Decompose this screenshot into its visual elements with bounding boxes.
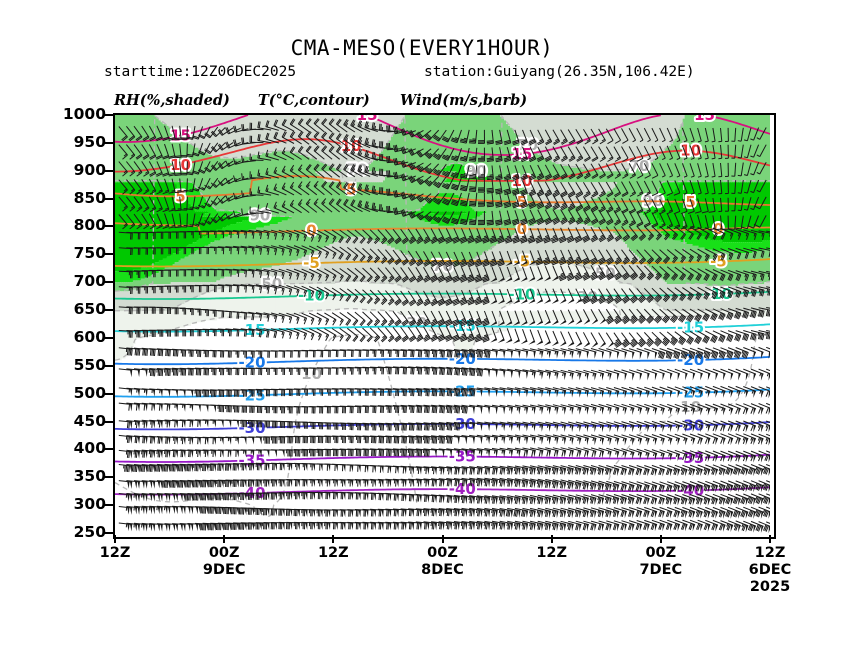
- wind-barb-full: [494, 523, 495, 529]
- wind-barb-flag: [458, 510, 460, 517]
- wind-barb-full: [166, 451, 167, 458]
- wind-barb-full: [455, 510, 456, 516]
- wind-barb-flag: [343, 465, 345, 472]
- wind-barb-full: [380, 450, 381, 457]
- wind-barb-full: [396, 480, 397, 487]
- wind-barb-full: [127, 422, 128, 428]
- wind-barb-flag: [145, 507, 147, 514]
- wind-barb-full: [412, 437, 413, 444]
- wind-barb-flag: [663, 498, 665, 505]
- wind-barb-flag: [610, 498, 612, 505]
- wind-barb-flag: [753, 438, 756, 445]
- wind-barb-half: [522, 523, 523, 526]
- wind-barb-half: [727, 523, 728, 526]
- wind-barb-full: [158, 437, 159, 444]
- wind-barb-half: [674, 484, 675, 487]
- wind-barb-flag: [769, 526, 771, 533]
- wind-barb-full: [517, 523, 518, 529]
- wind-barb-flag: [183, 524, 185, 531]
- wind-barb-flag: [678, 469, 680, 476]
- wind-barb-flag: [229, 420, 231, 427]
- wind-barb-flag: [145, 524, 147, 531]
- wind-barb-half: [712, 510, 713, 513]
- wind-barb-full: [521, 510, 522, 516]
- wind-barb-flag: [298, 464, 300, 471]
- wind-barb-half: [507, 497, 508, 500]
- wind-barb-flag: [496, 480, 498, 487]
- wind-barb-flag: [252, 508, 254, 515]
- wind-barb-flag: [738, 498, 741, 505]
- wind-barb-full: [189, 465, 190, 472]
- wind-barb-flag: [143, 494, 145, 501]
- wind-barb-full: [524, 498, 525, 504]
- wind-barb-flag: [602, 511, 604, 518]
- wind-barb-full: [418, 495, 419, 502]
- wind-barb-flag: [397, 523, 399, 530]
- wind-barb-half: [628, 497, 629, 500]
- wind-barb-half: [598, 468, 599, 471]
- wind-barb-flag: [135, 507, 137, 514]
- wind-barb-flag: [290, 523, 292, 530]
- wind-barb-full: [464, 510, 465, 517]
- wind-barb-full: [159, 451, 160, 458]
- wind-barb-flag: [229, 450, 231, 457]
- wind-barb-flag: [199, 481, 201, 488]
- wind-barb-full: [406, 437, 407, 443]
- wind-barb-flag: [655, 469, 657, 476]
- wind-barb-flag: [150, 481, 152, 488]
- wind-barb-flag: [746, 438, 749, 445]
- wind-barb-full: [456, 523, 457, 530]
- wind-barb-full: [471, 468, 472, 475]
- wind-barb-flag: [708, 485, 711, 492]
- temperature-contour-label: 10: [680, 142, 701, 160]
- wind-barb-half: [530, 480, 531, 483]
- wind-barb-flag: [267, 493, 269, 500]
- wind-barb-flag: [359, 480, 361, 487]
- wind-barb-flag: [328, 523, 330, 530]
- wind-barb-full: [426, 450, 427, 457]
- wind-barb-flag: [374, 523, 376, 530]
- wind-barb-full: [409, 523, 410, 529]
- wind-barb-flag: [143, 507, 145, 514]
- wind-barb-flag: [526, 481, 528, 488]
- wind-barb-full: [524, 511, 525, 517]
- wind-barb-flag: [579, 438, 581, 445]
- wind-barb-half: [608, 438, 609, 441]
- wind-barb-full: [396, 437, 397, 444]
- wind-barb-full: [486, 523, 487, 529]
- wind-barb-flag: [632, 524, 634, 531]
- wind-barb-flag: [556, 524, 558, 531]
- wind-barb-flag: [435, 480, 437, 487]
- wind-barb-flag: [602, 524, 604, 531]
- wind-barb: [606, 448, 619, 452]
- wind-barb-flag: [769, 485, 771, 492]
- wind-barb-flag: [199, 438, 201, 445]
- wind-barb-flag: [435, 523, 437, 530]
- wind-barb-flag: [366, 480, 368, 487]
- wind-barb-full: [502, 468, 503, 474]
- wind-barb-half: [484, 497, 485, 500]
- wind-barb-flag: [594, 498, 596, 505]
- wind-barb-flag: [587, 438, 589, 445]
- wind-barb-flag: [244, 523, 246, 530]
- wind-barb-flag: [556, 450, 558, 457]
- wind-barb-full: [129, 466, 130, 473]
- wind-barb-half: [605, 497, 606, 500]
- wind-barb-full: [447, 510, 448, 516]
- wind-barb-full: [577, 450, 579, 456]
- wind-barb-half: [590, 468, 591, 471]
- wind-barb-full: [523, 480, 524, 486]
- wind-barb-flag: [572, 524, 574, 531]
- wind-barb-flag: [305, 523, 307, 530]
- wind-barb-flag: [420, 480, 422, 487]
- wind-barb-full: [164, 465, 165, 472]
- wind-barb-half: [570, 438, 571, 441]
- wind-barb-flag: [708, 511, 711, 518]
- wind-barb-flag: [282, 450, 284, 457]
- wind-barb-full: [449, 510, 450, 517]
- wind-barb-flag: [165, 524, 167, 531]
- wind-barb-flag: [275, 493, 277, 500]
- wind-barb-full: [387, 450, 388, 457]
- wind-barb-flag: [625, 438, 627, 445]
- wind-barb-half: [514, 523, 515, 526]
- wind-barb-full: [517, 498, 518, 504]
- wind-barb-full: [509, 498, 510, 504]
- wind-barb-full: [126, 465, 127, 472]
- wind-barb-full: [417, 495, 418, 502]
- wind-barb-flag: [738, 469, 741, 476]
- wind-barb-full: [150, 451, 151, 458]
- wind-barb-full: [493, 510, 494, 517]
- wind-barb-half: [502, 437, 503, 440]
- wind-barb-flag: [678, 438, 680, 445]
- wind-barb-flag: [587, 451, 589, 458]
- wind-barb-half: [537, 523, 538, 526]
- wind-barb-flag: [564, 482, 566, 489]
- wind-barb-flag: [130, 452, 132, 459]
- wind-barb-half: [499, 480, 500, 483]
- wind-barb-flag: [587, 468, 589, 475]
- wind-barb-full: [388, 510, 389, 517]
- wind-barb-flag: [206, 438, 208, 445]
- wind-barb-flag: [640, 498, 642, 505]
- time-height-cross-section-plot[interactable]: 30507090907050301010907070-40-40-40-35-3…: [113, 113, 776, 539]
- wind-barb-flag: [214, 438, 216, 445]
- wind-barb-flag: [290, 493, 292, 500]
- wind-barb-flag: [135, 494, 137, 501]
- wind-barb-flag: [685, 511, 687, 518]
- wind-barb-flag: [275, 480, 277, 487]
- wind-barb-full: [180, 481, 181, 488]
- wind-barb-full: [508, 480, 509, 486]
- wind-barb-full: [394, 494, 395, 501]
- wind-barb-half: [590, 510, 591, 513]
- wind-barb-full: [388, 523, 389, 530]
- wind-barb-flag: [640, 524, 642, 531]
- wind-barb-full: [152, 421, 153, 428]
- wind-barb-half: [719, 497, 720, 500]
- wind-barb-half: [763, 467, 764, 470]
- plot-canvas: 30507090907050301010907070-40-40-40-35-3…: [115, 115, 770, 533]
- wind-barb-full: [164, 481, 165, 488]
- wind-barb-flag: [450, 468, 452, 475]
- wind-barb-flag: [564, 498, 566, 505]
- wind-barb-full: [464, 523, 465, 530]
- wind-barb-full: [152, 465, 153, 472]
- wind-barb-flag: [161, 437, 163, 444]
- wind-barb-half: [676, 438, 677, 441]
- wind-barb-half: [472, 450, 473, 453]
- wind-barb-full: [455, 468, 456, 474]
- wind-barb-flag: [564, 438, 566, 445]
- wind-barb-flag: [458, 468, 460, 475]
- starttime-label: starttime:12Z06DEC2025: [104, 64, 296, 80]
- wind-barb-full: [426, 480, 427, 487]
- wind-barb-flag: [488, 480, 490, 487]
- wind-barb-flag: [503, 498, 505, 505]
- wind-barb-flag: [222, 481, 224, 488]
- wind-barb-flag: [176, 507, 178, 514]
- wind-barb: [614, 481, 627, 485]
- wind-barb-full: [432, 437, 433, 444]
- wind-barb-flag: [366, 523, 368, 530]
- wind-barb-flag: [610, 438, 612, 445]
- wind-barb-flag: [237, 508, 239, 515]
- wind-barb-full: [502, 523, 503, 529]
- wind-barb-full: [152, 451, 153, 457]
- wind-barb-flag: [647, 498, 649, 505]
- wind-barb-full: [135, 437, 136, 444]
- wind-barb-flag: [723, 455, 726, 462]
- wind-barb-flag: [442, 480, 444, 487]
- rh-contour-label: 50: [595, 264, 616, 282]
- wind-barb-flag: [678, 498, 680, 505]
- wind-barb-flag: [420, 495, 422, 502]
- wind-barb-flag: [480, 437, 482, 444]
- wind-barb-half: [514, 468, 515, 471]
- wind-barb-full: [485, 468, 486, 474]
- wind-barb-full: [486, 510, 487, 516]
- wind-barb-full: [524, 450, 525, 456]
- wind-barb-full: [379, 510, 380, 517]
- temperature-contour-label: 15: [694, 115, 715, 124]
- wind-barb-full: [388, 494, 389, 501]
- wind-barb-flag: [594, 438, 596, 445]
- wind-barb-half: [492, 497, 493, 500]
- wind-barb-flag: [191, 465, 193, 472]
- wind-barb-flag: [458, 497, 460, 504]
- wind-barb-full: [429, 450, 430, 456]
- wind-barb-flag: [168, 437, 170, 444]
- wind-barb-flag: [480, 468, 482, 475]
- wind-barb-full: [705, 438, 707, 444]
- wind-barb-full: [494, 510, 495, 516]
- y-tick-mark: [105, 504, 113, 506]
- wind-barb-half: [560, 467, 561, 470]
- wind-barb-full: [432, 480, 433, 487]
- wind-barb-full: [167, 465, 168, 471]
- wind-barb-full: [411, 437, 412, 444]
- wind-barb-full: [166, 437, 167, 444]
- wind-barb-flag: [127, 507, 129, 514]
- wind-barb-full: [485, 497, 486, 503]
- wind-barb-full: [486, 468, 487, 474]
- wind-barb-full: [414, 450, 415, 457]
- wind-barb-flag: [427, 510, 429, 517]
- wind-barb-full: [426, 437, 427, 444]
- wind-barb-flag: [420, 510, 422, 517]
- wind-barb-full: [523, 523, 524, 529]
- wind-barb-full: [144, 451, 145, 458]
- wind-barb-full: [517, 468, 518, 474]
- wind-barb-flag: [685, 438, 687, 445]
- wind-barb-half: [608, 451, 609, 454]
- y-tick-mark: [105, 225, 113, 227]
- wind-barb-full: [532, 511, 533, 517]
- wind-barb-full: [441, 480, 442, 487]
- wind-barb-flag: [647, 469, 649, 476]
- wind-barb-flag: [526, 524, 528, 531]
- wind-barb-full: [425, 510, 426, 516]
- wind-barb-flag: [518, 481, 520, 488]
- wind-barb-half: [568, 497, 569, 500]
- wind-barb-flag: [670, 438, 672, 445]
- wind-barb-half: [590, 483, 591, 486]
- wind-barb-flag: [511, 437, 513, 444]
- wind-barb-flag: [534, 481, 536, 488]
- wind-barb-full: [493, 468, 494, 474]
- wind-barb-flag: [389, 510, 391, 517]
- wind-barb-full: [135, 451, 136, 458]
- wind-barb-flag: [579, 468, 581, 475]
- wind-barb-flag: [191, 438, 193, 445]
- wind-barb-flag: [655, 511, 657, 518]
- wind-barb-full: [418, 450, 419, 457]
- wind-barb-flag: [723, 469, 726, 476]
- wind-barb-flag: [572, 450, 574, 457]
- wind-barb-flag: [173, 524, 175, 531]
- wind-barb-flag: [321, 493, 323, 500]
- wind-barb-flag: [381, 510, 383, 517]
- wind-barb-flag: [168, 507, 170, 514]
- wind-barb-flag: [541, 511, 543, 518]
- wind-barb-full: [426, 468, 427, 475]
- wind-barb-flag: [389, 467, 391, 474]
- wind-barb-full: [136, 451, 137, 458]
- wind-barb-full: [402, 450, 403, 457]
- wind-barb-flag: [173, 494, 175, 501]
- wind-barb-half: [575, 482, 576, 485]
- wind-barb-full: [167, 437, 168, 443]
- wind-barb-flag: [587, 511, 589, 518]
- wind-barb-full: [508, 523, 509, 529]
- wind-barb-half: [583, 497, 584, 500]
- wind-barb-flag: [150, 507, 152, 514]
- wind-barb-full: [411, 450, 412, 457]
- wind-barb-full: [387, 523, 388, 530]
- wind-barb-flag: [298, 493, 300, 500]
- wind-barb-flag: [670, 454, 672, 461]
- wind-barb-full: [432, 496, 433, 503]
- wind-barb-flag: [214, 420, 216, 427]
- wind-barb-half: [719, 510, 720, 513]
- wind-barb-half: [537, 497, 538, 500]
- wind-barb-flag: [526, 511, 528, 518]
- wind-barb-full: [143, 465, 144, 471]
- wind-barb-full: [397, 437, 398, 444]
- wind-barb-half: [583, 482, 584, 485]
- wind-barb-flag: [526, 468, 528, 475]
- wind-barb-half: [631, 452, 632, 455]
- wind-barb-full: [409, 437, 410, 443]
- wind-barb-full: [129, 437, 130, 444]
- wind-barb-flag: [761, 455, 764, 462]
- wind-barb-flag: [450, 496, 452, 503]
- wind-barb-half: [598, 483, 599, 486]
- wind-barb-full: [402, 494, 403, 501]
- wind-barb-flag: [135, 481, 137, 488]
- wind-barb-flag: [480, 523, 482, 530]
- wind-barb-flag: [138, 495, 140, 502]
- wind-barb-half: [585, 438, 586, 441]
- wind-barb-half: [600, 438, 601, 441]
- wind-barb-full: [389, 437, 390, 444]
- wind-barb-flag: [435, 510, 437, 517]
- wind-barb-full: [470, 468, 471, 475]
- wind-barb-half: [492, 480, 493, 483]
- wind-barb-full: [396, 510, 397, 516]
- wind-barb-full: [396, 450, 397, 456]
- wind-barb-flag: [534, 468, 536, 475]
- wind-barb-flag: [488, 437, 490, 444]
- wind-barb-flag: [587, 483, 589, 490]
- wind-barb-full: [379, 523, 380, 530]
- wind-barb-flag: [625, 498, 627, 505]
- wind-barb-flag: [518, 498, 520, 505]
- wind-barb-half: [763, 510, 764, 513]
- wind-barb-half: [681, 510, 682, 513]
- wind-barb-flag: [206, 481, 208, 488]
- wind-barb-flag: [196, 507, 198, 514]
- wind-barb-flag: [267, 450, 269, 457]
- wind-barb-flag: [404, 480, 406, 487]
- wind-barb-flag: [549, 524, 551, 531]
- wind-barb-flag: [556, 498, 558, 505]
- wind-barb-flag: [127, 524, 129, 531]
- wind-barb-full: [509, 510, 510, 516]
- y-tick-label: 450: [40, 414, 106, 430]
- wind-barb-flag: [761, 526, 764, 533]
- wind-barb-full: [517, 481, 518, 487]
- wind-barb-half: [605, 510, 606, 513]
- wind-barb-flag: [738, 438, 741, 445]
- wind-barb-flag: [708, 438, 711, 445]
- wind-barb-full: [129, 422, 130, 429]
- wind-barb-flag: [579, 511, 581, 518]
- wind-barb-full: [143, 437, 144, 444]
- wind-barb-flag: [158, 524, 160, 531]
- wind-barb-flag: [670, 498, 672, 505]
- wind-barb-half: [756, 496, 757, 499]
- wind-barb-full: [434, 468, 435, 474]
- wind-barb-half: [563, 437, 564, 440]
- wind-barb-flag: [458, 437, 460, 444]
- wind-barb-flag: [305, 510, 307, 517]
